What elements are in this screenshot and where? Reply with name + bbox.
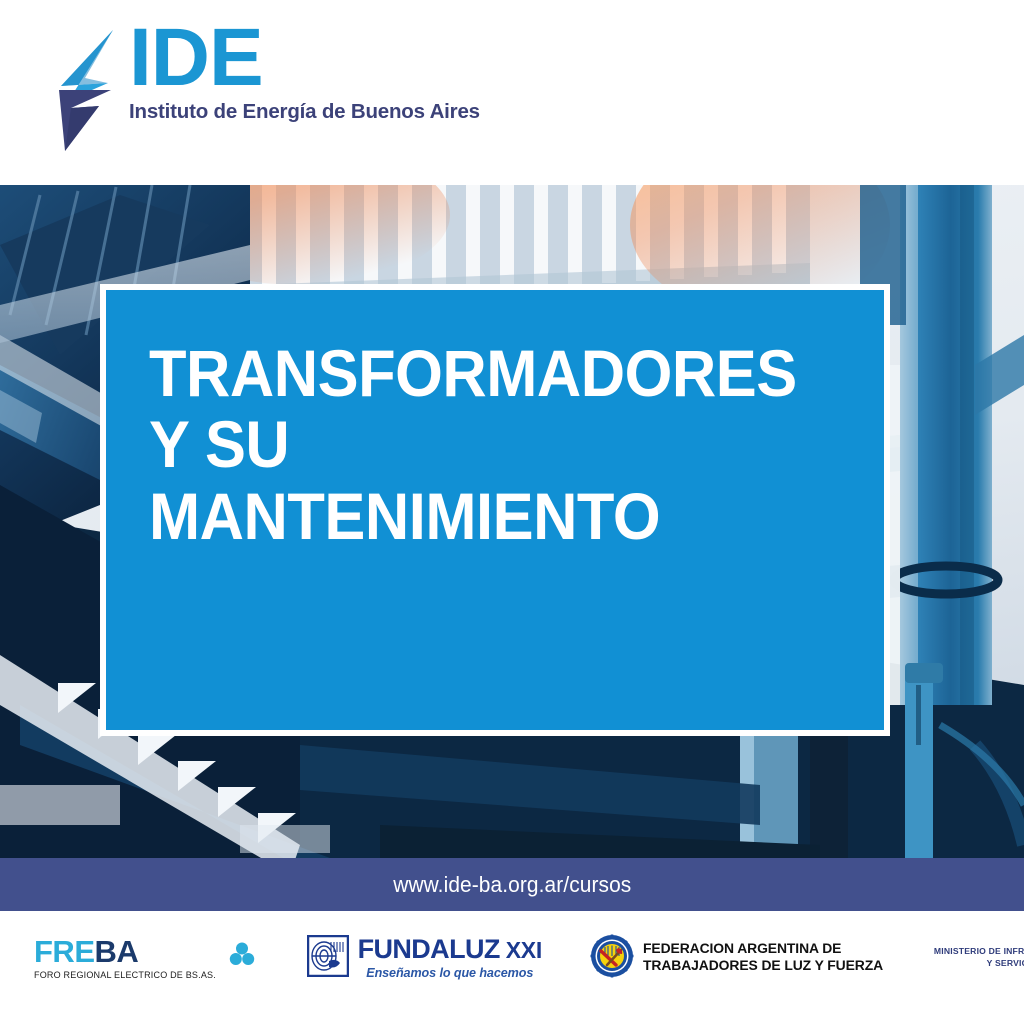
fundaluz-suffix: XXI (506, 939, 542, 962)
hero-title-card: TRANSFORMADORES Y SU MANTENIMIENTO (100, 284, 890, 736)
footer: FRE BA FORO REGIONAL ELECTRICO DE BS.AS. (0, 911, 1024, 1024)
gear-emblem-icon (590, 934, 634, 983)
hero-title: TRANSFORMADORES Y SU MANTENIMIENTO (149, 338, 814, 552)
partner-logos: FRE BA FORO REGIONAL ELECTRICO DE BS.AS. (0, 923, 1024, 993)
freba-tagline: FORO REGIONAL ELECTRICO DE BS.AS. (34, 970, 216, 980)
lightning-bolt-icon (55, 28, 117, 153)
fundaluz-wordmark: FUNDALUZ (358, 936, 500, 963)
website-url[interactable]: www.ide-ba.org.ar/cursos (393, 872, 631, 898)
fundaluz-tagline: Enseñamos lo que hacemos (358, 966, 542, 980)
ide-logo: IDE Instituto de Energía de Buenos Aires (55, 20, 480, 153)
ide-wordmark: IDE (129, 20, 480, 95)
ide-subtitle: Instituto de Energía de Buenos Aires (129, 100, 480, 124)
partner-logo-fatlyf[interactable]: FEDERACION ARGENTINA DE TRABAJADORES DE … (590, 934, 888, 983)
partner-logo-fundaluz[interactable]: FUNDALUZ XXI Enseñamos lo que hacemos (307, 935, 542, 982)
hero-title-panel: TRANSFORMADORES Y SU MANTENIMIENTO (106, 290, 884, 730)
header: IDE Instituto de Energía de Buenos Aires (0, 0, 1024, 185)
partner-logo-freba[interactable]: FRE BA FORO REGIONAL ELECTRICO DE BS.AS. (34, 936, 255, 980)
partner-logo-ministerio[interactable]: MINISTERIO DE INFRAESTRUCTURA Y SERVICIO… (934, 946, 1024, 969)
website-url-bar[interactable]: www.ide-ba.org.ar/cursos (0, 858, 1024, 911)
ministerio-name: MINISTERIO DE INFRAESTRUCTURA Y SERVICIO… (934, 946, 1024, 969)
freba-wordmark-part-b: BA (95, 936, 139, 967)
fundaluz-globe-icon (307, 935, 349, 982)
freba-wordmark: FRE BA (34, 936, 222, 967)
poster-root: IDE Instituto de Energía de Buenos Aires (0, 0, 1024, 1024)
three-circles-icon (229, 941, 255, 972)
fatlyf-name: FEDERACION ARGENTINA DE TRABAJADORES DE … (643, 941, 883, 976)
ide-logo-text: IDE Instituto de Energía de Buenos Aires (129, 20, 480, 124)
freba-wordmark-part-a: FRE (34, 936, 95, 967)
